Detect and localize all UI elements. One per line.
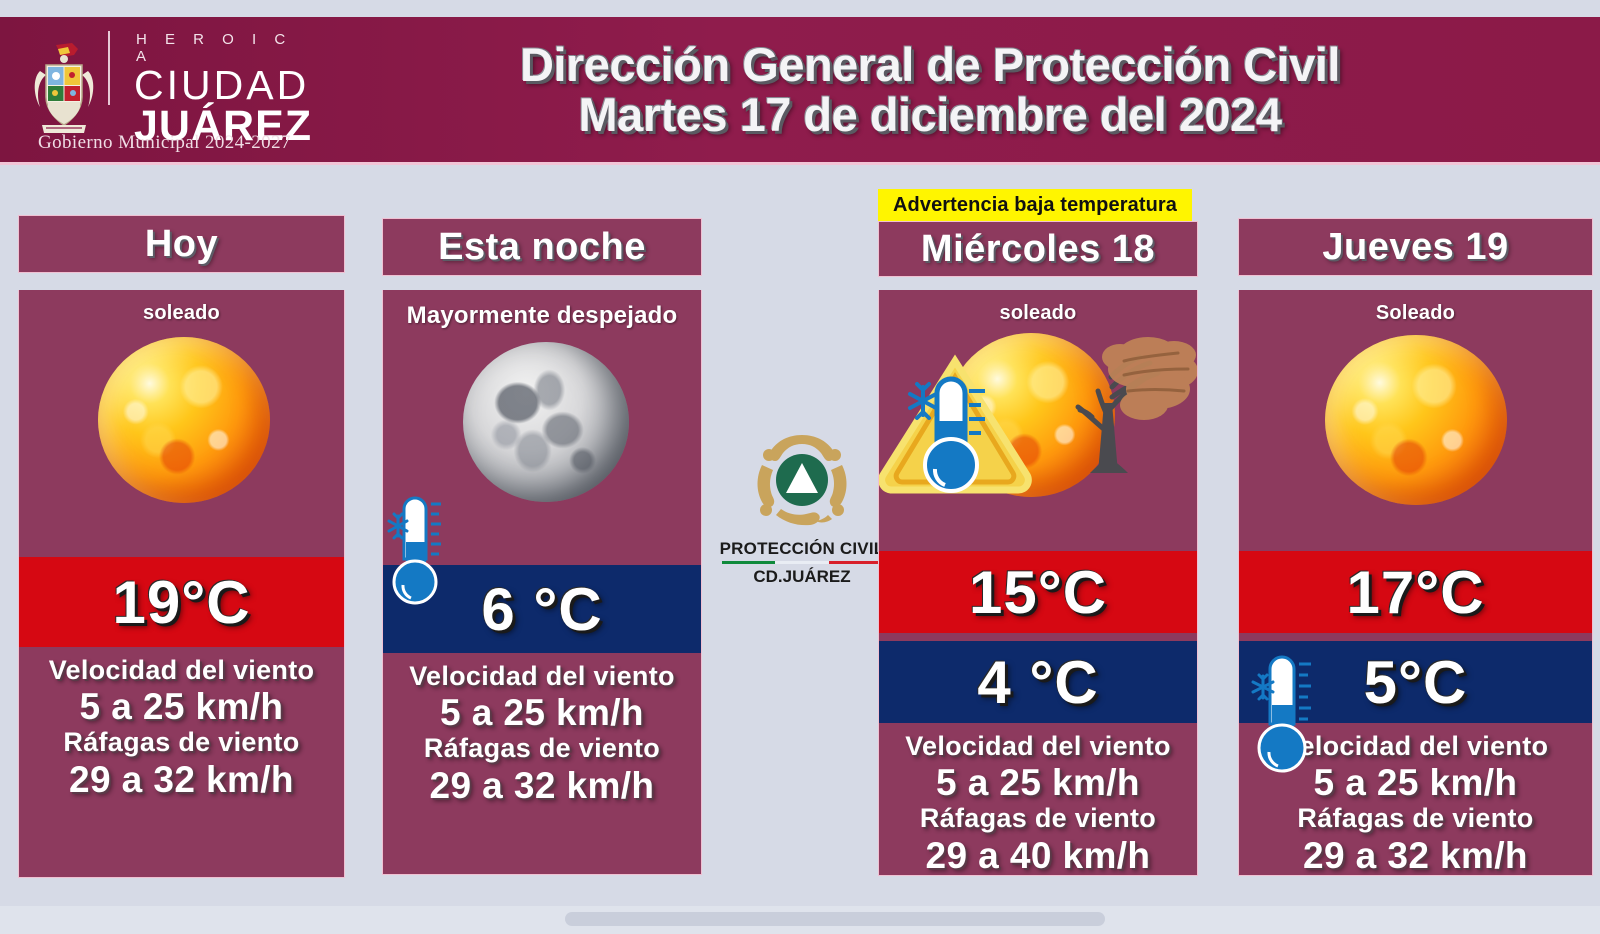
wind-gust-label-esta-noche: Ráfagas de viento: [383, 733, 701, 764]
icon-zone-hoy: [19, 325, 344, 525]
wind-speed-value-esta-noche: 5 a 25 km/h: [383, 692, 701, 733]
card-title-esta-noche: Esta noche: [438, 226, 646, 269]
card-body-miercoles-18: soleado: [878, 290, 1198, 876]
condition-label-hoy: soleado: [19, 290, 344, 325]
proteccion-civil-name-label: PROTECCIÓN CIVIL: [712, 539, 892, 559]
card-title-hoy: Hoy: [145, 223, 218, 266]
wind-gust-value-jueves-19: 29 a 32 km/h: [1239, 835, 1592, 876]
card-header-esta-noche: Esta noche: [382, 218, 702, 276]
page-title-line2: Martes 17 de diciembre del 2024: [300, 90, 1560, 140]
header-title-block: Dirección General de Protección Civil Ma…: [300, 40, 1600, 140]
card-title-jueves-19: Jueves 19: [1322, 226, 1508, 269]
wind-gust-label-jueves-19: Ráfagas de viento: [1239, 803, 1592, 834]
mexico-flag-rule: [722, 561, 882, 564]
wind-gust-value-miercoles-18: 29 a 40 km/h: [879, 835, 1197, 876]
wind-gust-label-hoy: Ráfagas de viento: [19, 727, 344, 758]
cold-thermometer-icon: [385, 490, 447, 608]
temp-band-high-jueves-19: 17°C: [1239, 551, 1592, 633]
card-header-miercoles-18: Miércoles 18: [878, 221, 1198, 277]
temp-low-jueves-19: 5°C: [1364, 648, 1468, 717]
card-body-jueves-19: Soleado 17°C: [1238, 290, 1593, 876]
horizontal-scrollbar-thumb[interactable]: [565, 912, 1105, 926]
wind-speed-value-hoy: 5 a 25 km/h: [19, 686, 344, 727]
wind-block-hoy: Velocidad del viento 5 a 25 km/h Ráfagas…: [19, 647, 344, 800]
icon-zone-miercoles-18: [879, 325, 1197, 529]
wind-speed-value-miercoles-18: 5 a 25 km/h: [879, 762, 1197, 803]
forecast-card-hoy[interactable]: Hoy soleado 19°C Velocidad del viento 5 …: [18, 215, 345, 878]
temp-band-high-hoy: 19°C: [19, 557, 344, 647]
brand-gobierno-label: Gobierno Municipal 2024-2027: [38, 132, 291, 154]
city-coat-of-arms-icon: [28, 41, 100, 137]
low-temperature-warning-badge: Advertencia baja temperatura: [878, 189, 1192, 221]
card-body-hoy: soleado 19°C Velocidad del viento 5 a 25…: [18, 290, 345, 878]
sun-icon: [98, 337, 270, 503]
condition-label-esta-noche: Mayormente despejado: [383, 290, 701, 330]
proteccion-civil-emblem-icon: [742, 425, 862, 535]
city-brand-block: H E R O I C A CIUDAD JUÁREZ Gobierno Mun…: [0, 31, 300, 148]
header-banner: H E R O I C A CIUDAD JUÁREZ Gobierno Mun…: [0, 17, 1600, 165]
wind-block-miercoles-18: Velocidad del viento 5 a 25 km/h Ráfagas…: [879, 723, 1197, 876]
icon-zone-jueves-19: [1239, 325, 1592, 529]
brand-wordmark: H E R O I C A CIUDAD JUÁREZ: [110, 31, 312, 148]
forecast-card-jueves-19[interactable]: Jueves 19 Soleado 17°C: [1238, 218, 1593, 876]
card-body-esta-noche: Mayormente despejado: [382, 290, 702, 875]
proteccion-civil-city-label: CD.JUÁREZ: [712, 567, 892, 587]
brand-heroica-label: H E R O I C A: [136, 31, 312, 65]
wind-gust-value-hoy: 29 a 32 km/h: [19, 759, 344, 800]
page-title-line1: Dirección General de Protección Civil: [300, 40, 1560, 90]
forecast-card-miercoles-18[interactable]: Miércoles 18 soleado: [878, 221, 1198, 876]
temp-high-miercoles-18: 15°C: [969, 558, 1107, 627]
card-header-hoy: Hoy: [18, 215, 345, 273]
forecast-card-esta-noche[interactable]: Esta noche Mayormente despejado: [382, 218, 702, 875]
condition-label-jueves-19: Soleado: [1239, 290, 1592, 325]
temp-high-jueves-19: 17°C: [1346, 558, 1484, 627]
wind-gust-value-esta-noche: 29 a 32 km/h: [383, 765, 701, 806]
temp-band-low-miercoles-18: 4 °C: [879, 641, 1197, 723]
wind-speed-label-hoy: Velocidad del viento: [19, 655, 344, 686]
wind-speed-label-miercoles-18: Velocidad del viento: [879, 731, 1197, 762]
low-temperature-warning-triangle-icon: [878, 347, 1037, 502]
brand-ciudad-label: CIUDAD: [134, 65, 312, 105]
temp-low-miercoles-18: 4 °C: [977, 648, 1098, 717]
horizontal-scrollbar-track[interactable]: [0, 906, 1600, 934]
warning-badge-label: Advertencia baja temperatura: [893, 194, 1177, 217]
weather-infographic-page: H E R O I C A CIUDAD JUÁREZ Gobierno Mun…: [0, 0, 1600, 934]
temp-band-high-miercoles-18: 15°C: [879, 551, 1197, 633]
wind-blown-tree-icon: [1062, 313, 1198, 483]
sun-icon: [1325, 335, 1507, 505]
temp-high-hoy: 19°C: [112, 568, 250, 637]
wind-speed-label-esta-noche: Velocidad del viento: [383, 661, 701, 692]
card-header-jueves-19: Jueves 19: [1238, 218, 1593, 276]
wind-block-esta-noche: Velocidad del viento 5 a 25 km/h Ráfagas…: [383, 653, 701, 806]
card-title-miercoles-18: Miércoles 18: [921, 228, 1155, 271]
moon-icon: [463, 342, 629, 502]
wind-gust-label-miercoles-18: Ráfagas de viento: [879, 803, 1197, 834]
temp-low-esta-noche: 6 °C: [481, 575, 602, 644]
top-margin-strip: [0, 0, 1600, 17]
cold-thermometer-icon: [1249, 648, 1319, 776]
proteccion-civil-logo: PROTECCIÓN CIVIL CD.JUÁREZ: [712, 425, 892, 587]
